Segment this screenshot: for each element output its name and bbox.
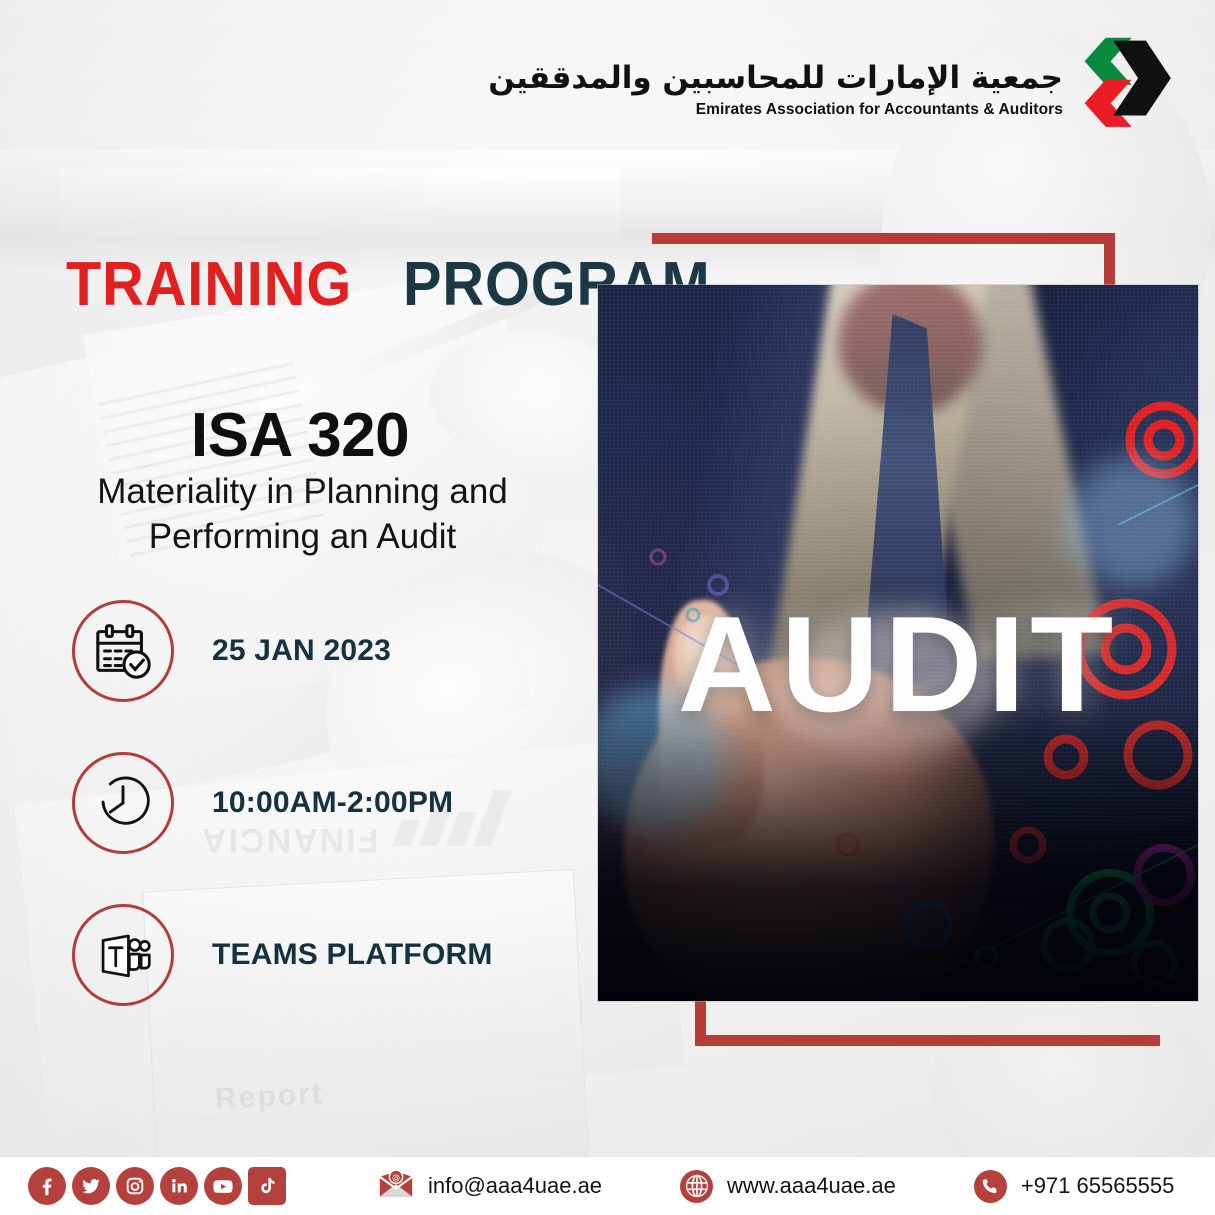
bracket-bottom-bar [695, 1035, 1160, 1046]
session-details: 25 JAN 2023 10:00AM-2:00PM [72, 592, 592, 1048]
globe-icon [680, 1170, 713, 1203]
phone-icon [974, 1170, 1007, 1203]
footer-bar: @ info@aaa4uae.ae www.aaa4uae.ae + [0, 1157, 1215, 1215]
poster-canvas: FINANCIA Report جمعية الإمارات للمحاسبين… [0, 0, 1215, 1215]
detail-row-date: 25 JAN 2023 [72, 592, 592, 710]
email-text: info@aaa4uae.ae [428, 1173, 602, 1199]
social-links [28, 1167, 286, 1205]
hero-bottom-fade [598, 700, 1198, 1001]
contact-website[interactable]: www.aaa4uae.ae [680, 1170, 896, 1203]
detail-row-platform: TEAMS PLATFORM [72, 896, 592, 1014]
phone-text: +971 65565555 [1021, 1173, 1175, 1199]
hero-image-audit: AUDIT [598, 285, 1198, 1001]
twitter-icon[interactable] [72, 1167, 110, 1205]
detail-row-time: 10:00AM-2:00PM [72, 744, 592, 862]
detail-label-date: 25 JAN 2023 [212, 634, 391, 668]
detail-label-platform: TEAMS PLATFORM [212, 938, 493, 972]
bracket-top-bar [652, 233, 1115, 244]
svg-text:@: @ [392, 1172, 400, 1182]
logo-english-name: Emirates Association for Accountants & A… [488, 101, 1063, 119]
chevron-logo-mark-icon [1077, 36, 1197, 144]
association-logo: جمعية الإمارات للمحاسبين والمدققين Emira… [488, 36, 1197, 144]
youtube-icon[interactable] [204, 1167, 242, 1205]
contact-email[interactable]: @ info@aaa4uae.ae [378, 1169, 602, 1204]
course-code: ISA 320 [0, 400, 600, 471]
logo-arabic-name: جمعية الإمارات للمحاسبين والمدققين [488, 61, 1063, 97]
detail-label-time: 10:00AM-2:00PM [212, 786, 453, 820]
microsoft-teams-icon [72, 904, 174, 1006]
email-icon: @ [378, 1169, 414, 1204]
facebook-icon[interactable] [28, 1167, 66, 1205]
linkedin-icon[interactable] [160, 1167, 198, 1205]
tiktok-icon[interactable] [248, 1167, 286, 1205]
instagram-icon[interactable] [116, 1167, 154, 1205]
website-text: www.aaa4uae.ae [727, 1173, 896, 1199]
contact-phone[interactable]: +971 65565555 [974, 1170, 1175, 1203]
calendar-check-icon [72, 600, 174, 702]
clock-icon [72, 752, 174, 854]
headline-word-training: TRAINING [66, 250, 352, 319]
hero-word-audit: AUDIT [598, 586, 1198, 742]
course-subtitle: Materiality in Planning and Performing a… [30, 470, 575, 560]
bracket-top-right-bar [1104, 233, 1115, 289]
logo-text-block: جمعية الإمارات للمحاسبين والمدققين Emira… [488, 61, 1063, 120]
